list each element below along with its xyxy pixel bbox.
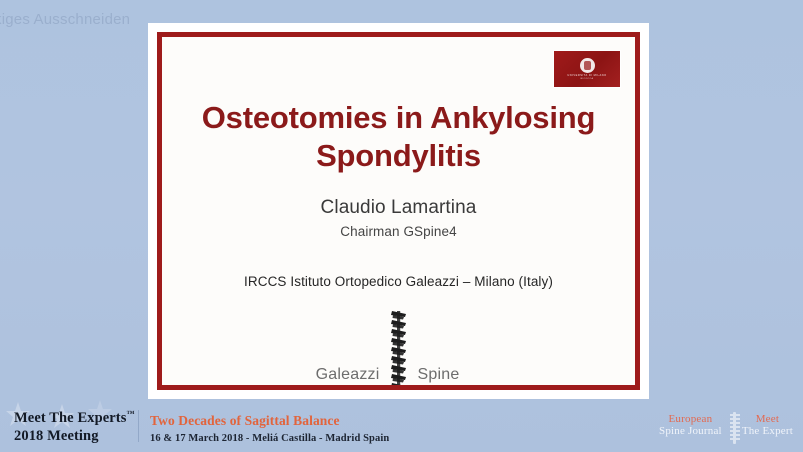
event-title: Two Decades of Sagittal Balance bbox=[150, 412, 389, 430]
galeazzi-wordmark: Galeazzi innovation research bbox=[294, 367, 380, 390]
university-logo-subtitle: BICOCCA bbox=[581, 78, 594, 80]
overlay-caption-text: kiges Ausschneiden bbox=[0, 11, 130, 28]
galeazzi-spine-logo: Galeazzi innovation research Spine spine… bbox=[294, 309, 504, 390]
mte-right-line1-text: Meet bbox=[742, 413, 793, 425]
european-spine-journal-logo: European Spine Journal bbox=[659, 413, 722, 437]
banner-divider bbox=[138, 410, 139, 442]
esj-line2-text: Spine Journal bbox=[659, 425, 722, 437]
meet-the-expert-logo: Meet The Expert bbox=[742, 413, 793, 437]
spine-wordmark: Spine spinesurg.com bbox=[418, 367, 504, 390]
spine-icon bbox=[384, 309, 414, 390]
mte-line1: Meet The Experts™ bbox=[14, 409, 135, 428]
slide-author-role: Chairman GSpine4 bbox=[162, 224, 635, 239]
slide-affiliation: IRCCS Istituto Ortopedico Galeazzi – Mil… bbox=[162, 274, 635, 289]
bottom-banner: Meet The Experts™ 2018 Meeting Two Decad… bbox=[0, 400, 803, 452]
galeazzi-wordmark-text: Galeazzi bbox=[294, 367, 380, 383]
slide-content: UNIVERSITA DI MILANO BICOCCA Osteotomies… bbox=[162, 37, 635, 385]
university-logo: UNIVERSITA DI MILANO BICOCCA bbox=[553, 50, 621, 88]
slide-author-name: Claudio Lamartina bbox=[162, 197, 635, 219]
event-date-venue: 16 & 17 March 2018 - Meliá Castilla - Ma… bbox=[150, 432, 389, 446]
slide-red-border: UNIVERSITA DI MILANO BICOCCA Osteotomies… bbox=[157, 32, 640, 390]
sponsor-logos: European Spine Journal Meet The Expert bbox=[647, 413, 797, 447]
university-logo-name: UNIVERSITA DI MILANO bbox=[567, 74, 606, 78]
mte-right-line2-text: The Expert bbox=[742, 425, 793, 437]
presentation-slide-frame: UNIVERSITA DI MILANO BICOCCA Osteotomies… bbox=[148, 23, 649, 399]
screen-recording-canvas: kiges Ausschneiden UNIVERSITA DI MILANO … bbox=[0, 0, 803, 452]
spine-wordmark-text: Spine bbox=[418, 367, 504, 383]
spine-wordmark-subtext: spinesurg.com bbox=[418, 386, 504, 390]
galeazzi-wordmark-subtext: innovation research bbox=[294, 386, 380, 390]
trademark-symbol: ™ bbox=[126, 409, 134, 418]
meet-the-experts-logo: Meet The Experts™ 2018 Meeting bbox=[14, 409, 135, 446]
mte-line2-text: 2018 Meeting bbox=[14, 428, 135, 446]
event-info-block: Two Decades of Sagittal Balance 16 & 17 … bbox=[150, 412, 389, 445]
esj-line1-text: European bbox=[659, 413, 722, 425]
slide-title: Osteotomies in Ankylosing Spondylitis bbox=[186, 99, 611, 176]
university-crest-icon bbox=[580, 58, 595, 73]
mte-line1-text: Meet The Experts bbox=[14, 410, 126, 426]
spine-icon-small bbox=[727, 411, 743, 445]
